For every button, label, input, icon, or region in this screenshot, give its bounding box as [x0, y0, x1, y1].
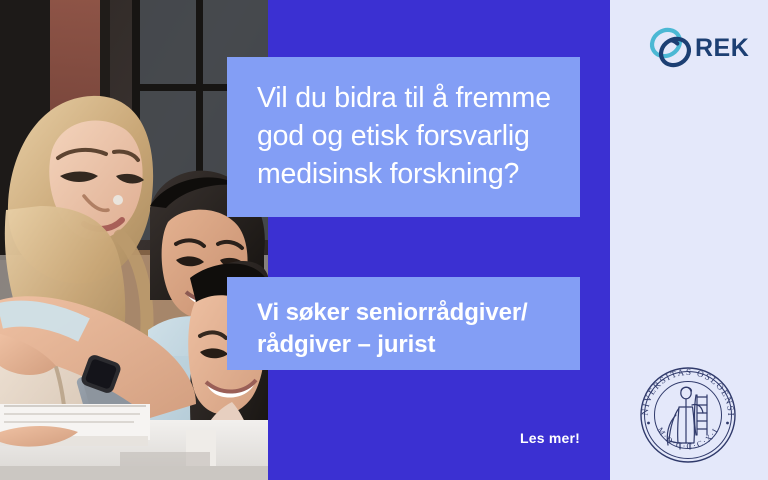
headline-text: Vil du bidra til å fremme god og etisk f… — [257, 79, 554, 193]
rek-logo[interactable]: REK — [648, 24, 740, 72]
headline-box: Vil du bidra til å fremme god og etisk f… — [227, 57, 580, 217]
rek-rings-icon — [648, 26, 694, 70]
seal-bottom-text: M·D·C·C·C·X·I — [655, 426, 720, 451]
job-title-box: Vi søker seniorrådgiver/ rådgiver – juri… — [227, 277, 580, 370]
read-more-link[interactable]: Les mer! — [380, 430, 580, 446]
recruitment-banner: Vil du bidra til å fremme god og etisk f… — [0, 0, 768, 480]
job-title-text: Vi søker seniorrådgiver/ rådgiver – juri… — [257, 297, 554, 361]
rek-wordmark: REK — [695, 36, 749, 61]
uio-seal: UNIVERSITAS OSLOENSIS M·D·C·C·C·X·I — [634, 361, 742, 469]
